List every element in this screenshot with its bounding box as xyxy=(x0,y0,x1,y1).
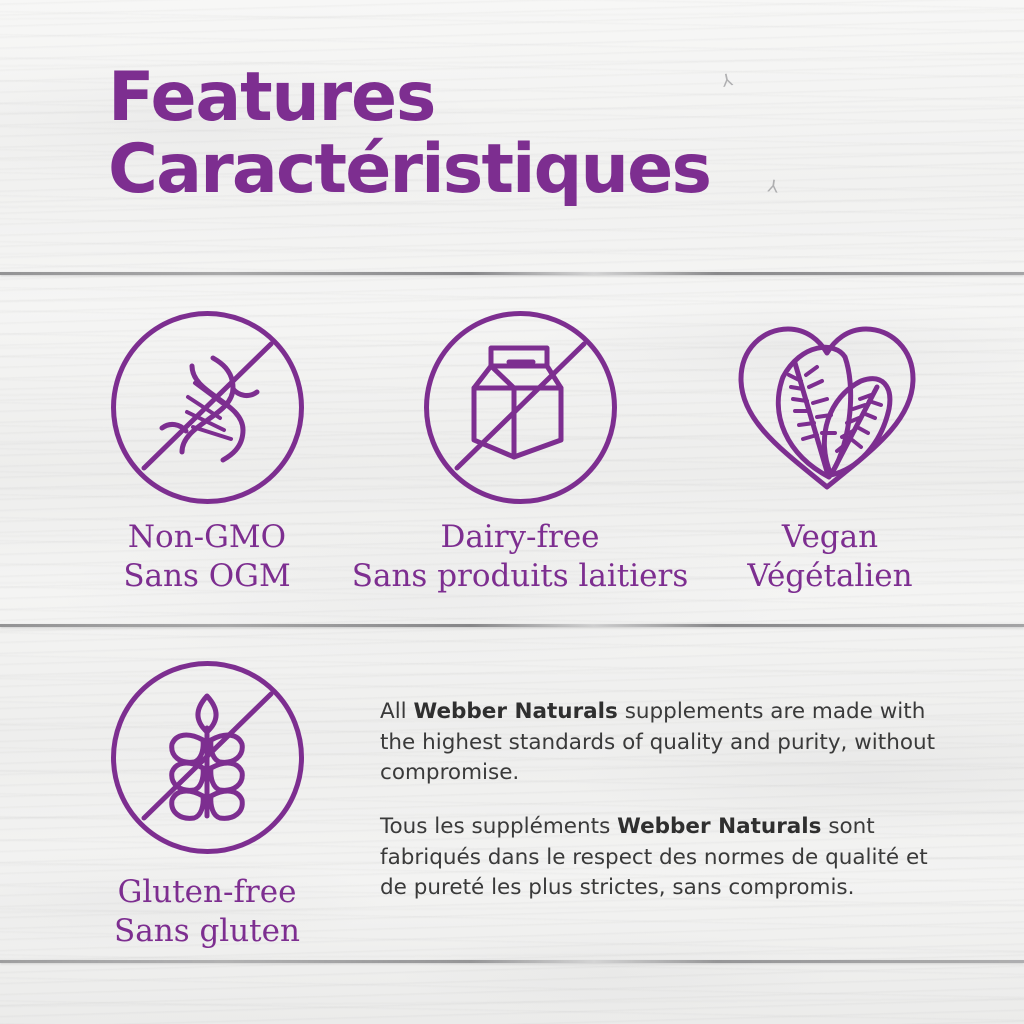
brand-name-en: Webber Naturals xyxy=(414,699,618,724)
features-infographic: ⅄ ⅄ Features Caractéristiques xyxy=(0,0,1024,1024)
brand-name-fr: Webber Naturals xyxy=(617,814,821,839)
page-title: Features Caractéristiques xyxy=(108,62,710,206)
body-paragraph-fr: Tous les suppléments Webber Naturals son… xyxy=(380,812,950,904)
page-title-fr: Caractéristiques xyxy=(108,134,710,206)
badge-label-gluten-free-en: Gluten-free xyxy=(37,873,377,912)
vegan-heart-leaves-icon xyxy=(725,305,930,510)
badge-label-vegan: Vegan Végétalien xyxy=(660,518,1000,597)
badge-label-gluten-free: Gluten-free Sans gluten xyxy=(37,873,377,952)
badge-label-non-gmo: Non-GMO Sans OGM xyxy=(37,518,377,597)
badge-label-dairy-free-fr: Sans produits laitiers xyxy=(350,557,690,596)
badge-label-vegan-fr: Végétalien xyxy=(660,557,1000,596)
body-fr-before-brand: Tous les suppléments xyxy=(380,814,617,839)
body-paragraph-en: All Webber Naturals supplements are made… xyxy=(380,697,950,789)
page-title-en: Features xyxy=(108,62,710,134)
body-en-before-brand: All xyxy=(380,699,414,724)
badge-label-dairy-free-en: Dairy-free xyxy=(350,518,690,557)
plank-seam-top xyxy=(0,272,1024,275)
badge-label-non-gmo-en: Non-GMO xyxy=(37,518,377,557)
badge-label-non-gmo-fr: Sans OGM xyxy=(37,557,377,596)
badge-label-vegan-en: Vegan xyxy=(660,518,1000,557)
plank-seam-bottom xyxy=(0,960,1024,963)
badge-label-dairy-free: Dairy-free Sans produits laitiers xyxy=(350,518,690,597)
badge-label-gluten-free-fr: Sans gluten xyxy=(37,912,377,951)
no-gluten-wheat-icon xyxy=(100,650,315,865)
plank-seam-middle xyxy=(0,624,1024,627)
no-dairy-milk-carton-icon xyxy=(413,300,628,515)
no-gmo-dna-icon xyxy=(100,300,315,515)
